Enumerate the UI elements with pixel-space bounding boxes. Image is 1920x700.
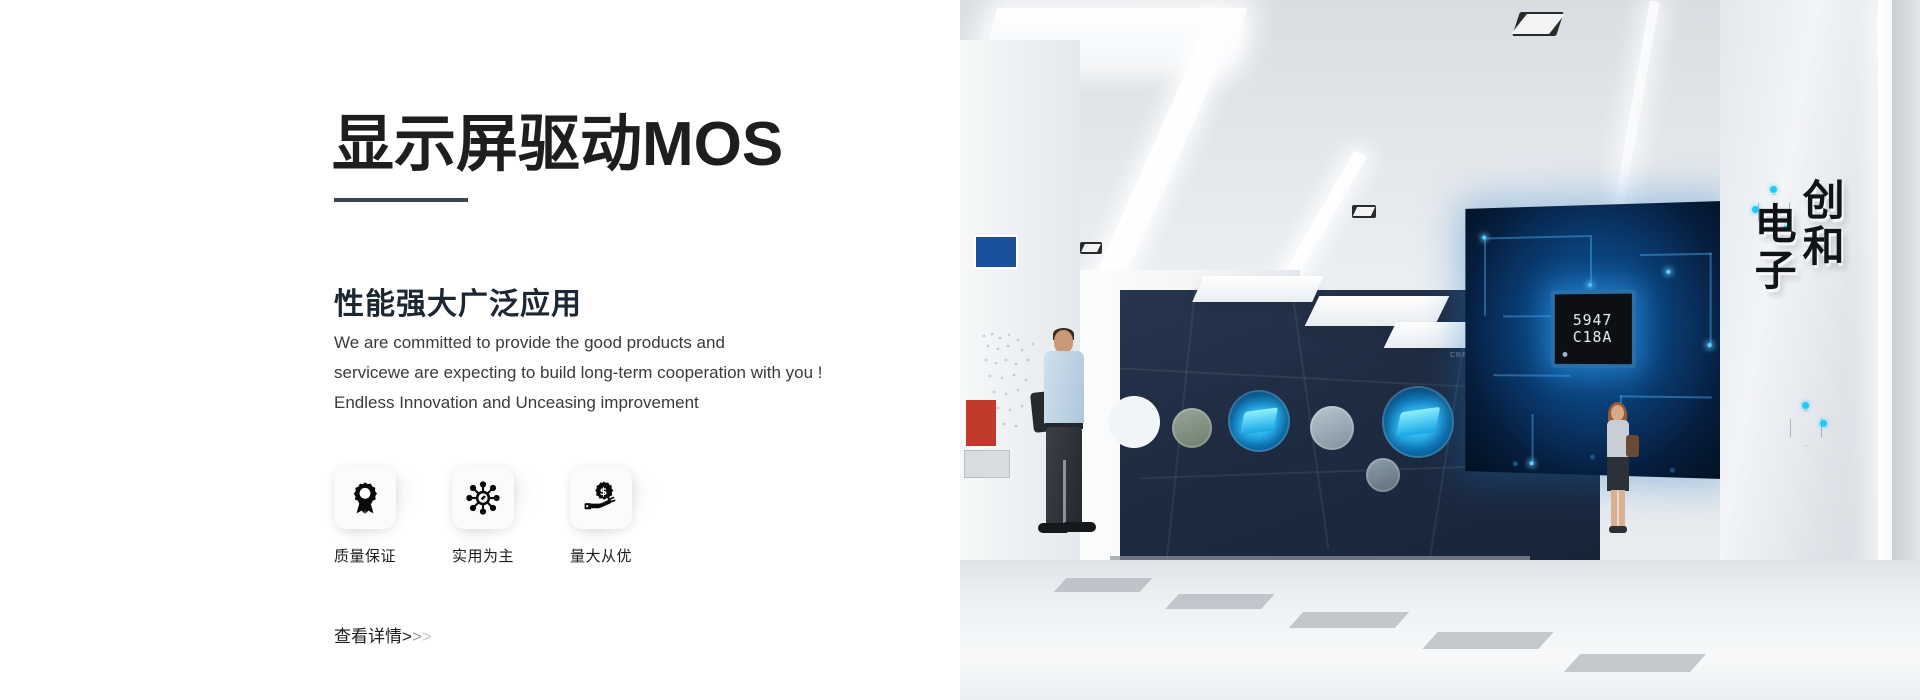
wall-circle-chip-glow-2 xyxy=(1382,386,1454,458)
person-businesswoman xyxy=(1597,405,1639,535)
chip-text-line-2: C18A xyxy=(1573,329,1613,346)
feature-item-practical[interactable]: 实用为主 xyxy=(452,467,542,566)
ceiling-spotlight-1 xyxy=(1080,242,1102,254)
wall-logo-column-left: 电子 xyxy=(1750,202,1794,294)
network-nodes-icon xyxy=(465,480,501,516)
award-medal-icon xyxy=(347,480,383,516)
hand-money-icon: $ xyxy=(583,480,619,516)
description-line-2: servicewe are expecting to build long-te… xyxy=(334,358,823,388)
chevron-3-icon: > xyxy=(422,627,432,646)
page-title: 显示屏驱动MOS xyxy=(332,114,783,176)
feature-item-bulk-discount[interactable]: $ 量大从优 xyxy=(570,467,660,566)
feature-label: 实用为主 xyxy=(452,545,514,566)
chevron-1-icon: > xyxy=(402,627,412,646)
description-line-3: Endless Innovation and Unceasing improve… xyxy=(334,388,823,418)
wall-circle-photo-0 xyxy=(1108,396,1160,448)
view-details-label: 查看详情 xyxy=(334,627,402,646)
wall-circle-photo-3 xyxy=(1366,458,1400,492)
banner-description: We are committed to provide the good pro… xyxy=(334,328,823,418)
ceiling-spotlight-2 xyxy=(1352,205,1376,218)
feature-list: 质量保证 xyxy=(334,467,660,566)
wall-circle-photo-2 xyxy=(1310,406,1354,450)
wall-logo-column-right: 创和 xyxy=(1798,178,1842,270)
feature-badge xyxy=(334,467,396,529)
description-line-1: We are committed to provide the good pro… xyxy=(334,328,823,358)
title-divider xyxy=(334,198,468,202)
feature-badge xyxy=(452,467,514,529)
ceiling-spotlight-4 xyxy=(1512,12,1564,36)
feature-item-quality[interactable]: 质量保证 xyxy=(334,467,424,566)
chevron-2-icon: > xyxy=(412,627,422,646)
view-details-link[interactable]: 查看详情>>> xyxy=(334,622,432,647)
chip-graphic: 5947 C18A xyxy=(1550,290,1635,369)
person-businessman xyxy=(1030,330,1100,545)
feature-label: 质量保证 xyxy=(334,545,396,566)
wall-sign-grey xyxy=(964,450,1010,478)
wall-circle-photo-1 xyxy=(1172,408,1212,448)
banner-text-panel: 显示屏驱动MOS 性能强大广泛应用 We are committed to pr… xyxy=(0,0,960,700)
chip-text-line-1: 5947 xyxy=(1573,312,1613,329)
showroom-photo: 公司展厅走廊实景图 xyxy=(960,0,1920,700)
banner-subtitle: 性能强大广泛应用 xyxy=(334,290,582,320)
ceiling-soffit-1 xyxy=(1192,276,1324,302)
hero-banner: 显示屏驱动MOS 性能强大广泛应用 We are committed to pr… xyxy=(0,0,1920,700)
wall-circle-chip-glow-1 xyxy=(1228,390,1290,452)
feature-label: 量大从优 xyxy=(570,545,632,566)
floor xyxy=(960,560,1920,700)
wall-sign-blue xyxy=(974,235,1018,269)
feature-badge: $ xyxy=(570,467,632,529)
svg-text:$: $ xyxy=(600,485,608,498)
